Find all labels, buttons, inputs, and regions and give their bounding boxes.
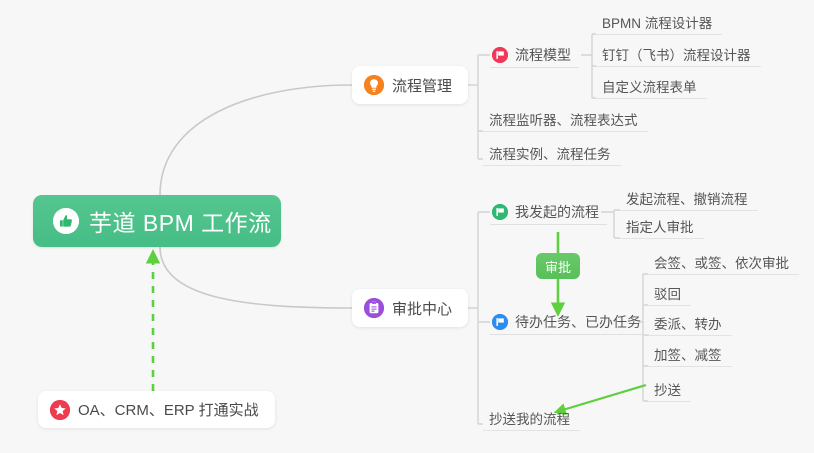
leaf-label: 发起流程、撤销流程 (626, 188, 748, 208)
leaf-label: 抄送 (654, 379, 681, 399)
leaf-node-bohui[interactable]: 驳回 (648, 281, 691, 306)
leaf-label: 抄送我的流程 (489, 408, 570, 428)
leaf-label: 加签、减签 (654, 344, 722, 364)
leaf-label: 会签、或签、依次审批 (654, 252, 789, 272)
thumbs-up-icon (53, 208, 79, 234)
tag-node-shenpi[interactable]: 审批 (536, 253, 580, 279)
clipboard-icon (364, 298, 384, 318)
leaf-node-dingding[interactable]: 钉钉（飞书）流程设计器 (596, 42, 761, 67)
leaf-node-zidingyi[interactable]: 自定义流程表单 (596, 74, 707, 99)
leaf-label: 钉钉（飞书）流程设计器 (602, 44, 751, 64)
node-label: 待办任务、已办任务 (515, 312, 641, 332)
star-icon (50, 400, 70, 420)
leaf-label: 流程监听器、流程表达式 (489, 109, 638, 129)
leaf-node-zhiding[interactable]: 指定人审批 (620, 214, 704, 239)
node-label: 我发起的流程 (515, 202, 599, 222)
lightbulb-icon (364, 75, 384, 95)
leaf-label: 委派、转办 (654, 313, 722, 333)
node-liuchengmoxing[interactable]: 流程模型 (490, 42, 579, 68)
flag-red-icon (492, 47, 508, 63)
node-wofaqide[interactable]: 我发起的流程 (490, 199, 607, 225)
leaf-label: 自定义流程表单 (602, 76, 697, 96)
leaf-node-huiqian[interactable]: 会签、或签、依次审批 (648, 250, 799, 275)
link-root-to-liuchengguanli (160, 85, 352, 195)
callout-label: OA、CRM、ERP 打通实战 (78, 399, 259, 420)
branch-node-shenpizhongxin[interactable]: 审批中心 (352, 289, 468, 327)
root-node[interactable]: 芋道 BPM 工作流 (33, 195, 281, 247)
link-root-to-shenpizhongxin (160, 247, 352, 308)
branch-label: 审批中心 (392, 298, 452, 319)
leaf-node-jianting[interactable]: 流程监听器、流程表达式 (483, 107, 648, 132)
leaf-label: 驳回 (654, 283, 681, 303)
callout-node[interactable]: OA、CRM、ERP 打通实战 (38, 391, 275, 428)
leaf-node-chaosongwode[interactable]: 抄送我的流程 (483, 406, 580, 431)
node-label: 流程模型 (515, 45, 571, 65)
branch-label: 流程管理 (392, 75, 452, 96)
mindmap-canvas: 芋道 BPM 工作流 流程管理 流程模型 BPMN 流程设计器 钉钉（飞书 (0, 0, 814, 453)
node-daibanrenwu[interactable]: 待办任务、已办任务 (490, 309, 649, 335)
leaf-node-bpmn[interactable]: BPMN 流程设计器 (596, 10, 722, 35)
flag-blue-icon (492, 314, 508, 330)
link-daibanrenwu-trunk (638, 274, 648, 401)
leaf-node-weipai[interactable]: 委派、转办 (648, 311, 732, 336)
leaf-node-faqi[interactable]: 发起流程、撤销流程 (620, 186, 758, 211)
leaf-node-jiaqian[interactable]: 加签、减签 (648, 342, 732, 367)
branch-node-liuchengguanli[interactable]: 流程管理 (352, 66, 468, 104)
tag-label: 审批 (545, 257, 571, 276)
link-liuchengmoxing-trunk (581, 34, 596, 98)
root-label: 芋道 BPM 工作流 (89, 204, 272, 238)
flag-green-icon (492, 204, 508, 220)
leaf-node-chaosong[interactable]: 抄送 (648, 377, 691, 402)
leaf-label: BPMN 流程设计器 (602, 12, 712, 32)
leaf-label: 指定人审批 (626, 216, 694, 236)
leaf-node-shili[interactable]: 流程实例、流程任务 (483, 141, 621, 166)
leaf-label: 流程实例、流程任务 (489, 143, 611, 163)
